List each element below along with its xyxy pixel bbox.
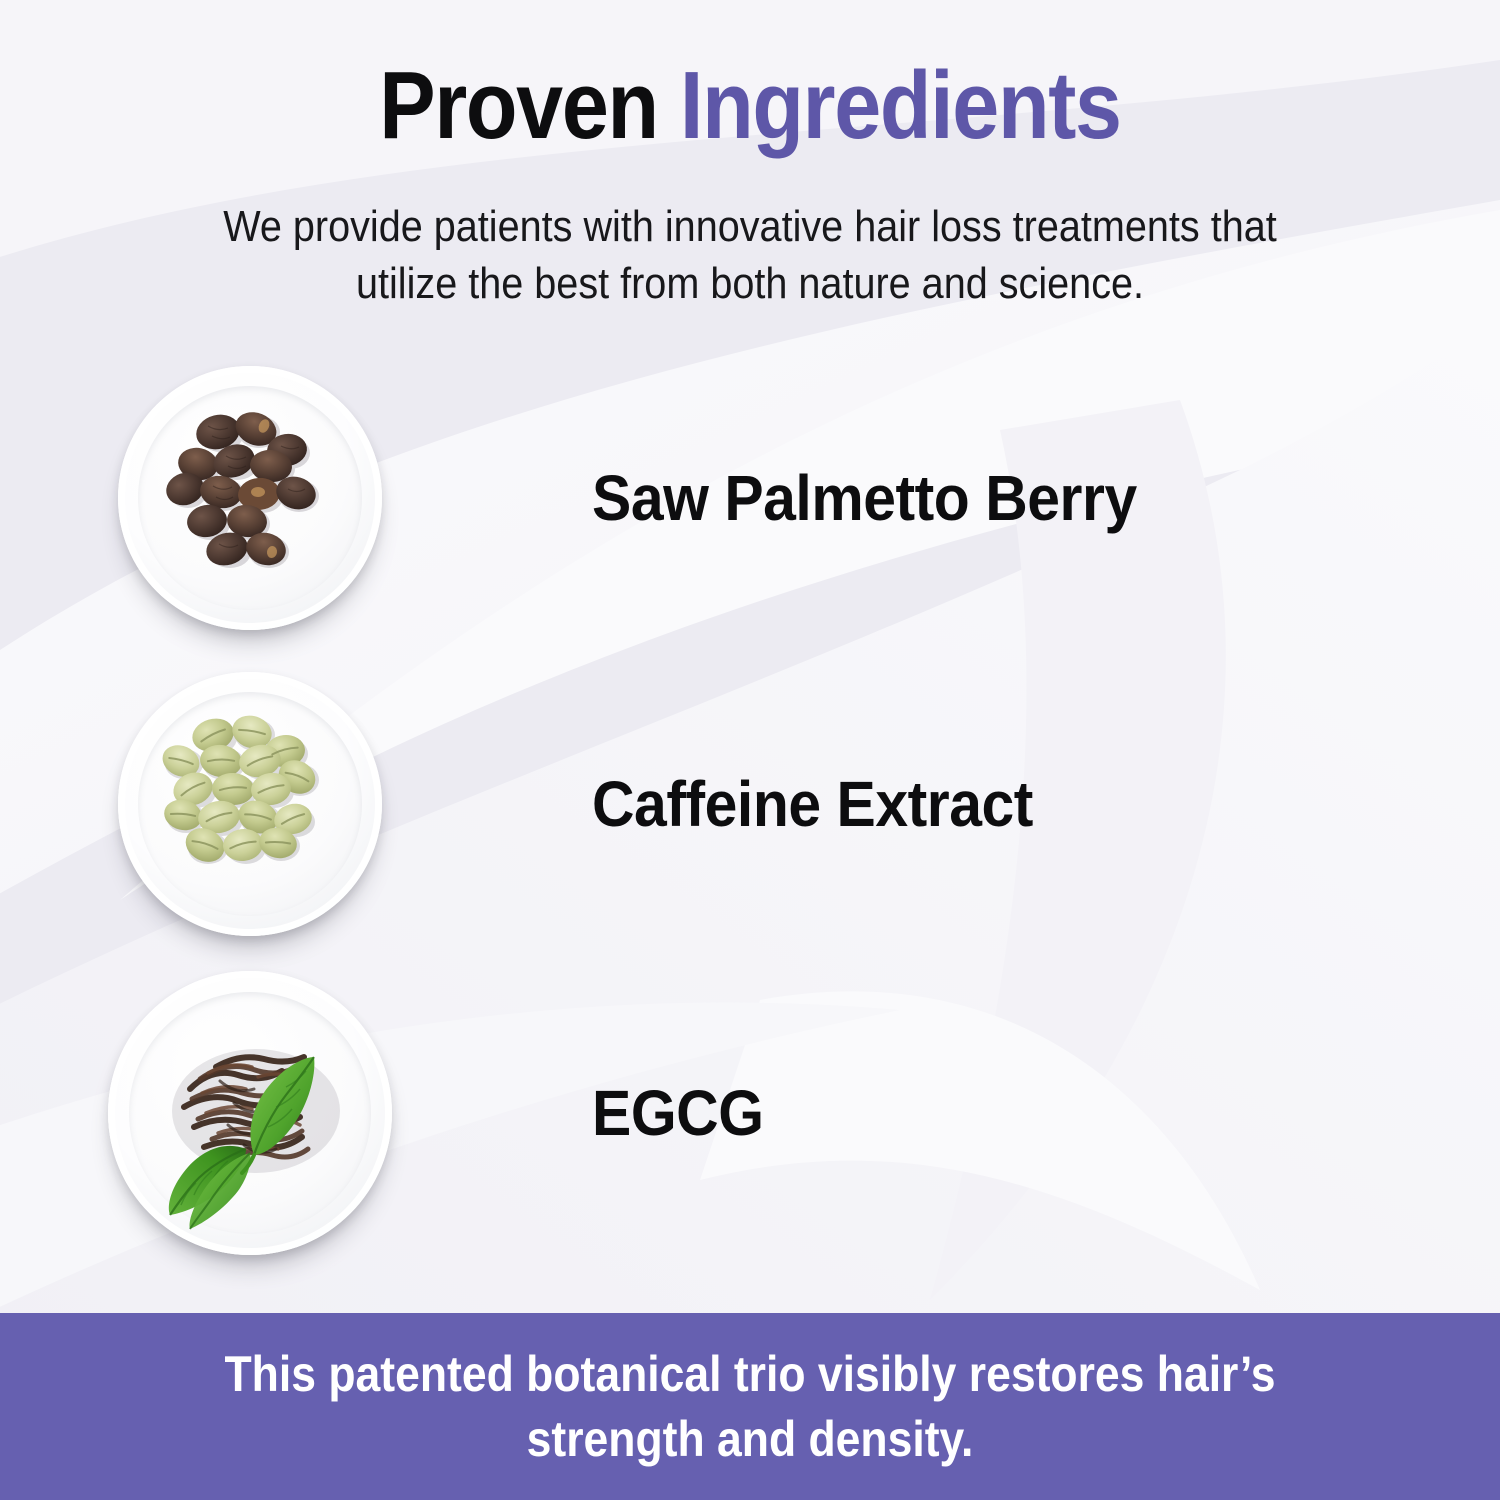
petri-dish: [108, 971, 392, 1255]
petri-dish: [118, 366, 382, 630]
banner-text: This patented botanical trio visibly res…: [216, 1342, 1284, 1472]
ingredient-name: Saw Palmetto Berry: [592, 461, 1137, 535]
ingredient-row: EGCG: [0, 968, 1500, 1258]
petri-dish: [118, 672, 382, 936]
ingredient-row: Caffeine Extract: [0, 668, 1500, 940]
petri-dish-saw-palmetto-berries: [0, 362, 500, 634]
ingredient-list: Saw Palmetto Berry: [0, 0, 1500, 1500]
saw-palmetto-berries-icon: [118, 366, 382, 630]
tea-leaves-icon: [108, 971, 392, 1255]
petri-dish-green-coffee-beans: [0, 668, 500, 940]
green-coffee-beans-icon: [118, 672, 382, 936]
ingredient-row: Saw Palmetto Berry: [0, 362, 1500, 634]
ingredients-infographic: Proven Ingredients We provide patients w…: [0, 0, 1500, 1500]
ingredient-name: EGCG: [592, 1076, 764, 1150]
ingredient-name: Caffeine Extract: [592, 767, 1033, 841]
petri-dish-tea-leaves: [0, 968, 500, 1258]
bottom-banner: This patented botanical trio visibly res…: [0, 1313, 1500, 1500]
